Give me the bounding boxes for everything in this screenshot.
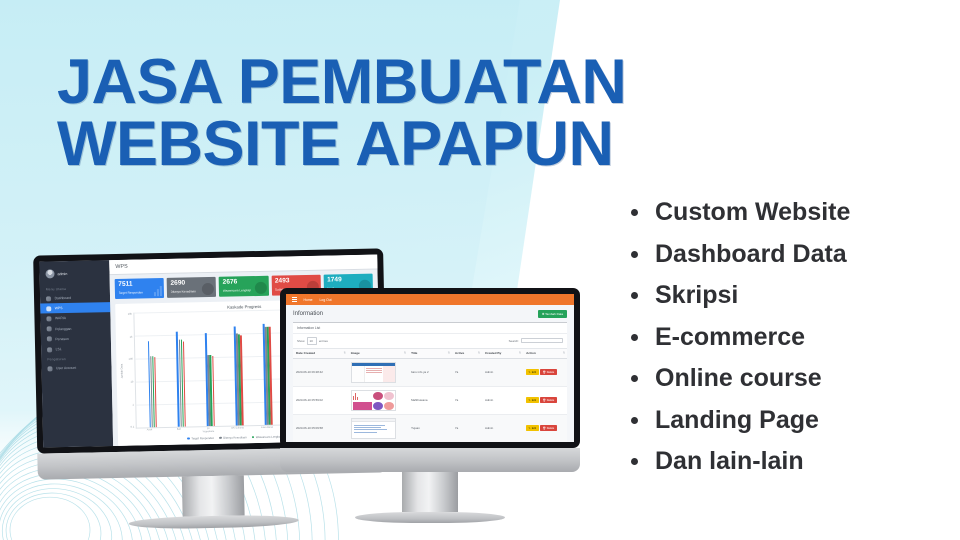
column-active[interactable]: Active⇅ — [452, 348, 482, 358]
sort-icon: ⇅ — [478, 352, 480, 355]
bar — [154, 357, 157, 428]
stat-card[interactable]: 2690 Ditanya Kesediaan — [167, 277, 217, 298]
bar-group — [205, 311, 215, 427]
sort-icon: ⇅ — [563, 352, 565, 355]
monitor-admin: Home Log Out Information ✚ Tambah Data I… — [280, 288, 580, 523]
admin-page-title: Information — [293, 311, 323, 317]
circle-icon — [46, 316, 51, 321]
delete-button[interactable]: 🗑Delete — [540, 369, 557, 375]
thumbnail[interactable] — [351, 362, 396, 383]
sidebar-item-label: Pelanggan — [55, 327, 71, 331]
legend-label: Ditanya Kesediaan — [223, 435, 247, 439]
bar-group — [176, 312, 186, 428]
dashboard-page-title: WPS — [115, 264, 127, 270]
monitor-bezel: Home Log Out Information ✚ Tambah Data I… — [280, 288, 580, 448]
cell-image — [348, 414, 408, 442]
cell-created-by: Admin — [482, 358, 523, 386]
sidebar-item-label: WARIA — [55, 316, 66, 320]
cell-active: Ya — [452, 414, 482, 442]
sidebar-item-label: User Account — [56, 366, 76, 370]
stat-card[interactable]: 7511 Target Responden — [115, 278, 165, 299]
legend-item: Ditanya Kesediaan — [219, 435, 247, 440]
cell-action: ✎Edit 🗑Delete — [523, 414, 567, 442]
sidebar-item-user-account[interactable]: User Account — [41, 362, 111, 374]
cell-date: 2023-06-10 05:59:02 — [293, 386, 348, 414]
legend-label: Wawancara Lengkap — [256, 435, 282, 440]
table-row: 2023-06-10 05:59:02 — [293, 386, 567, 414]
monitor-chin — [280, 448, 580, 472]
cell-date: 2023-06-10 06:28:42 — [293, 358, 348, 386]
avatar — [45, 269, 54, 278]
list-item: E-commerce — [625, 325, 945, 350]
list-item: Online course — [625, 366, 945, 391]
card-header: Information List — [293, 323, 567, 334]
legend-item: Target Responden — [187, 436, 214, 441]
search-label: Search: — [509, 339, 519, 343]
bar-group — [147, 312, 157, 428]
entries-label: entries — [319, 339, 328, 343]
headline-line-2: WEBSITE APAPUN — [57, 114, 757, 176]
admin-page-header: Information ✚ Tambah Data — [286, 305, 574, 322]
sort-icon: ⇅ — [344, 352, 346, 355]
pencil-icon: ✎ — [529, 371, 531, 374]
table-header-row: Date Created⇅ Image⇅ Title⇅ Active⇅ Crea… — [293, 348, 567, 358]
y-tick: 10k — [122, 313, 132, 316]
nav-home-link[interactable]: Home — [304, 298, 313, 302]
legend-label: Target Responden — [191, 436, 214, 440]
trash-icon: 🗑 — [542, 427, 545, 430]
table-toolbar: Show 10 entries Search: — [293, 334, 567, 348]
services-list: Custom Website Dashboard Data Skripsi E-… — [625, 200, 945, 491]
column-title[interactable]: Title⇅ — [408, 348, 452, 358]
circle-icon — [46, 306, 51, 311]
monitor-screen: Home Log Out Information ✚ Tambah Data I… — [286, 294, 574, 442]
circle-icon — [47, 347, 52, 352]
sort-icon: ⇅ — [519, 352, 521, 355]
add-data-button[interactable]: ✚ Tambah Data — [538, 310, 567, 318]
y-tick: 10 — [124, 381, 134, 384]
y-tick: 1 — [124, 403, 134, 406]
poster-canvas: JASA PEMBUATAN WEBSITE APAPUN Custom Web… — [0, 0, 960, 540]
delete-button[interactable]: 🗑Delete — [540, 425, 557, 431]
bar-group — [262, 310, 272, 426]
trash-icon: 🗑 — [542, 399, 545, 402]
y-tick: 100 — [123, 358, 133, 361]
pencil-icon: ✎ — [529, 399, 531, 402]
table-row: 2023-06-10 06:28:42 — [293, 358, 567, 386]
sort-icon: ⇅ — [448, 352, 450, 355]
cell-created-by: Admin — [482, 386, 523, 414]
monitor-neck — [402, 472, 458, 512]
users-icon — [47, 366, 52, 371]
legend-swatch — [252, 436, 255, 439]
table-row: 2023-06-10 05:09:58 — [293, 414, 567, 442]
sidebar-user-label: admin — [57, 271, 67, 275]
chart-y-axis-label: Jumlah Data — [120, 364, 123, 379]
column-created-by[interactable]: Created By⇅ — [482, 348, 523, 358]
headline-line-1: JASA PEMBUATAN — [57, 47, 626, 117]
admin-navbar: Home Log Out — [286, 294, 574, 305]
search-input[interactable] — [521, 338, 563, 343]
column-image[interactable]: Image⇅ — [348, 348, 408, 358]
trash-icon: 🗑 — [542, 371, 545, 374]
list-item: Landing Page — [625, 408, 945, 433]
thumbnail[interactable] — [351, 418, 396, 439]
bar-chart-icon — [154, 286, 162, 296]
table-body: 2023-06-10 06:28:42 — [293, 358, 567, 442]
thumbnail[interactable] — [351, 390, 396, 411]
pencil-icon: ✎ — [529, 427, 531, 430]
legend-swatch — [187, 437, 190, 440]
dashboard-sidebar: admin Menu Utama Dashboard WPS — [39, 260, 113, 447]
pie-chart-icon — [254, 282, 266, 294]
edit-button[interactable]: ✎Edit — [526, 397, 538, 403]
nav-logout-link[interactable]: Log Out — [320, 298, 332, 302]
circle-icon — [47, 326, 52, 331]
entries-selector[interactable]: Show 10 entries — [297, 337, 328, 345]
pie-chart-icon — [202, 283, 214, 295]
y-tick: 1k — [123, 335, 133, 338]
list-item: Custom Website — [625, 200, 945, 225]
entries-select[interactable]: 10 — [307, 337, 317, 345]
cell-date: 2023-06-10 05:09:58 — [293, 414, 348, 442]
sort-icon: ⇅ — [404, 352, 406, 355]
cell-active: Ya — [452, 358, 482, 386]
hamburger-icon[interactable] — [292, 297, 297, 302]
sidebar-user[interactable]: admin — [39, 264, 109, 284]
delete-button[interactable]: 🗑Delete — [540, 397, 557, 403]
bar-group — [234, 310, 244, 426]
dashboard-icon — [46, 296, 51, 301]
add-data-label: Tambah Data — [545, 312, 563, 316]
monitor-base — [355, 512, 505, 523]
list-item: Skripsi — [625, 283, 945, 308]
circle-icon — [47, 337, 52, 342]
legend-item: Wawancara Lengkap — [252, 435, 282, 440]
cell-title: Maftihuwana — [408, 386, 452, 414]
monitor-neck — [182, 475, 245, 516]
edit-button[interactable]: ✎Edit — [526, 369, 538, 375]
table-head: Date Created⇅ Image⇅ Title⇅ Active⇅ Crea… — [293, 348, 567, 358]
cell-title: Tujuan — [408, 414, 452, 442]
sidebar-item-label: Dashboard — [55, 296, 72, 300]
cell-active: Ya — [452, 386, 482, 414]
cell-action: ✎Edit 🗑Delete — [523, 358, 567, 386]
cell-created-by: Admin — [482, 414, 523, 442]
show-label: Show — [297, 339, 305, 343]
sidebar-item-label: LSL — [56, 347, 62, 351]
cell-image — [348, 358, 408, 386]
sidebar-item-label: WPS — [55, 306, 63, 310]
sidebar-item-label: Penasun — [55, 337, 68, 341]
edit-button[interactable]: ✎Edit — [526, 425, 538, 431]
stat-card[interactable]: 2676 Wawancara Lengkap — [219, 276, 269, 297]
column-action[interactable]: Action⇅ — [523, 348, 567, 358]
admin-app: Home Log Out Information ✚ Tambah Data I… — [286, 294, 574, 442]
list-item: Dashboard Data — [625, 242, 945, 267]
cell-action: ✎Edit 🗑Delete — [523, 386, 567, 414]
legend-swatch — [219, 436, 222, 439]
information-list-card: Information List Show 10 entries Search: — [293, 322, 567, 442]
cell-title: baru info ya 2 — [408, 358, 452, 386]
list-item: Dan lain-lain — [625, 449, 945, 474]
cell-image — [348, 386, 408, 414]
information-table: Date Created⇅ Image⇅ Title⇅ Active⇅ Crea… — [293, 348, 567, 442]
column-date-created[interactable]: Date Created⇅ — [293, 348, 348, 358]
bar — [212, 356, 215, 427]
table-search[interactable]: Search: — [509, 338, 563, 343]
page-title: JASA PEMBUATAN WEBSITE APAPUN — [57, 52, 757, 175]
